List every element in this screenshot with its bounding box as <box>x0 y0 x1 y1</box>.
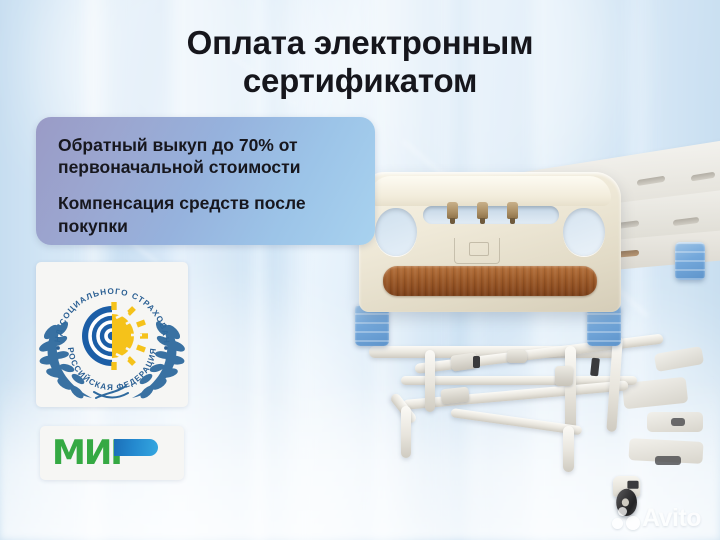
bed-headboard-rail <box>369 176 611 206</box>
bed-headboard-knob <box>447 202 458 219</box>
mir-logo-card: МИР <box>40 426 184 480</box>
listing-image-canvas: Оплата электронным сертификатом Обратный… <box>0 0 720 540</box>
bed-frame-rail <box>565 346 576 430</box>
benefit-text-buyback: Обратный выкуп до 70% от первоначальной … <box>58 134 353 178</box>
bed-headboard-cutout <box>563 208 605 256</box>
bed-frame-joint <box>555 366 573 386</box>
bed-mechanism-part <box>671 418 685 426</box>
benefit-text-compensation: Компенсация средств после покупки <box>58 192 353 236</box>
mir-logo-icon: МИР <box>52 433 172 473</box>
bed-headboard-knob <box>507 202 518 219</box>
bed-headboard-emboss <box>454 238 500 264</box>
avito-dots-icon <box>612 507 640 531</box>
bed-wood-panel <box>383 266 597 296</box>
mir-swoosh-icon <box>114 439 158 456</box>
bed-bumper <box>675 242 705 280</box>
bed-frame-fitting <box>473 356 480 368</box>
benefits-badge: Обратный выкуп до 70% от первоначальной … <box>36 117 375 245</box>
bed-mechanism-part <box>655 456 681 465</box>
bed-frame-leg <box>401 406 411 458</box>
bed-frame-rail <box>425 350 435 412</box>
bed-frame-joint <box>440 387 469 405</box>
bed-frame-fitting <box>590 358 600 377</box>
fss-logo-icon: ФОНД СОЦИАЛЬНОГО СТРАХОВАНИЯ РОССИЙСКАЯ … <box>36 262 188 407</box>
bed-headboard <box>359 172 621 312</box>
bed-mechanism-part <box>654 346 704 372</box>
bed-headboard-knob <box>477 202 488 219</box>
page-title: Оплата электронным сертификатом <box>60 24 660 99</box>
avito-wordmark: Avito <box>642 503 701 533</box>
hospital-bed-image <box>355 150 720 540</box>
page-title-line-1: Оплата электронным <box>60 24 660 62</box>
bed-frame-joint <box>507 350 527 363</box>
avito-watermark: Avito <box>612 503 712 533</box>
fss-logo-card: ФОНД СОЦИАЛЬНОГО СТРАХОВАНИЯ РОССИЙСКАЯ … <box>36 262 188 407</box>
bed-frame-leg <box>563 426 574 472</box>
bed-headboard-cutout <box>375 208 417 256</box>
bed-headboard-slot <box>423 206 559 224</box>
page-title-line-2: сертификатом <box>60 62 660 100</box>
